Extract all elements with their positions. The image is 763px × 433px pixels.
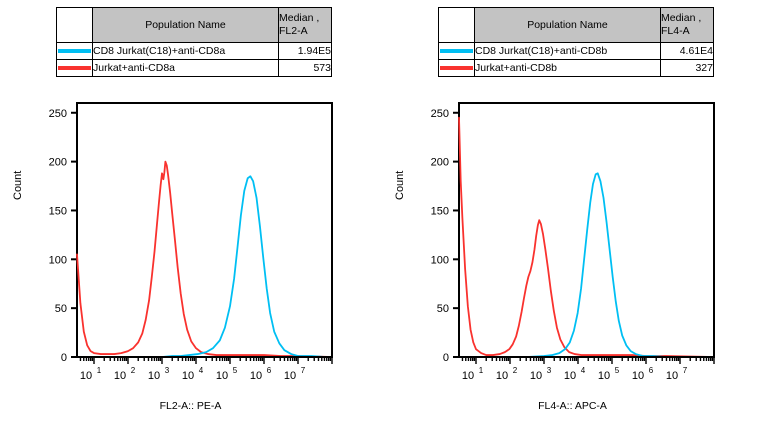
svg-text:3: 3 <box>547 366 552 375</box>
svg-text:7: 7 <box>683 366 688 375</box>
svg-text:100: 100 <box>49 254 67 266</box>
legend-median-value: 4.61E4 <box>661 43 714 60</box>
x-axis-title: FL4-A:: APC-A <box>382 400 763 412</box>
svg-text:50: 50 <box>55 303 67 315</box>
svg-text:100: 100 <box>431 254 449 266</box>
svg-text:10: 10 <box>496 370 508 382</box>
panel-right: Population Name Median , FL4-A CD8 Jurka… <box>382 0 763 433</box>
legend-median-value: 573 <box>279 60 332 77</box>
legend-median-value: 327 <box>661 60 714 77</box>
svg-text:250: 250 <box>431 108 449 120</box>
svg-text:10: 10 <box>148 370 160 382</box>
svg-text:150: 150 <box>431 205 449 217</box>
panel-left: Population Name Median , FL2-A CD8 Jurka… <box>0 0 381 433</box>
legend-row: CD8 Jurkat(C18)+anti-CD8b 4.61E4 <box>439 43 714 60</box>
svg-text:200: 200 <box>431 157 449 169</box>
svg-text:0: 0 <box>443 352 449 364</box>
svg-text:1: 1 <box>97 366 102 375</box>
svg-text:50: 50 <box>437 303 449 315</box>
svg-text:200: 200 <box>49 157 67 169</box>
legend-header-swatch <box>439 8 475 43</box>
svg-text:10: 10 <box>114 370 126 382</box>
legend-color-swatch-red <box>439 60 475 77</box>
legend-header-median-line1: Median , <box>661 12 713 25</box>
legend-color-swatch-cyan <box>439 43 475 60</box>
legend-population-name: CD8 Jurkat(C18)+anti-CD8b <box>475 43 661 60</box>
legend-header-row: Population Name Median , FL2-A <box>57 8 332 43</box>
svg-text:0: 0 <box>61 352 67 364</box>
svg-text:10: 10 <box>598 370 610 382</box>
svg-text:2: 2 <box>131 366 136 375</box>
svg-text:6: 6 <box>649 366 654 375</box>
y-axis-title: Count <box>12 171 24 200</box>
legend-color-swatch-cyan <box>57 43 93 60</box>
svg-text:10: 10 <box>250 370 262 382</box>
svg-text:4: 4 <box>199 366 204 375</box>
svg-text:150: 150 <box>49 205 67 217</box>
histogram-plot-right: 050100150200250101102103104105106107 <box>382 96 763 406</box>
svg-text:5: 5 <box>615 366 620 375</box>
swatch-line-icon <box>440 66 473 70</box>
legend-header-row: Population Name Median , FL4-A <box>439 8 714 43</box>
svg-text:6: 6 <box>267 366 272 375</box>
legend-table-right: Population Name Median , FL4-A CD8 Jurka… <box>438 7 714 77</box>
swatch-line-icon <box>440 49 473 53</box>
legend-header-median-line2: FL4-A <box>661 25 713 38</box>
svg-text:10: 10 <box>284 370 296 382</box>
svg-text:10: 10 <box>216 370 228 382</box>
svg-text:10: 10 <box>462 370 474 382</box>
legend-header-population-name: Population Name <box>93 8 279 43</box>
svg-text:10: 10 <box>666 370 678 382</box>
legend-row: CD8 Jurkat(C18)+anti-CD8a 1.94E5 <box>57 43 332 60</box>
figure-root: Population Name Median , FL2-A CD8 Jurka… <box>0 0 763 433</box>
histogram-plot-left: 050100150200250101102103104105106107 <box>0 96 381 406</box>
x-axis-title: FL2-A:: PE-A <box>0 400 381 412</box>
legend-header-median: Median , FL2-A <box>279 8 332 43</box>
svg-text:5: 5 <box>233 366 238 375</box>
legend-header-median-line2: FL2-A <box>279 25 331 38</box>
svg-text:7: 7 <box>301 366 306 375</box>
svg-text:10: 10 <box>632 370 644 382</box>
legend-population-name: Jurkat+anti-CD8a <box>93 60 279 77</box>
svg-text:10: 10 <box>564 370 576 382</box>
svg-text:1: 1 <box>479 366 484 375</box>
svg-text:4: 4 <box>581 366 586 375</box>
legend-header-median: Median , FL4-A <box>661 8 714 43</box>
legend-median-value: 1.94E5 <box>279 43 332 60</box>
legend-color-swatch-red <box>57 60 93 77</box>
histogram-svg: 050100150200250101102103104105106107 <box>382 96 763 396</box>
svg-text:3: 3 <box>165 366 170 375</box>
legend-row: Jurkat+anti-CD8a 573 <box>57 60 332 77</box>
legend-population-name: CD8 Jurkat(C18)+anti-CD8a <box>93 43 279 60</box>
legend-header-swatch <box>57 8 93 43</box>
legend-header-population-name: Population Name <box>475 8 661 43</box>
legend-population-name: Jurkat+anti-CD8b <box>475 60 661 77</box>
svg-text:250: 250 <box>49 108 67 120</box>
svg-text:10: 10 <box>530 370 542 382</box>
swatch-line-icon <box>58 49 91 53</box>
svg-text:2: 2 <box>513 366 518 375</box>
histogram-svg: 050100150200250101102103104105106107 <box>0 96 381 396</box>
legend-header-median-line1: Median , <box>279 12 331 25</box>
swatch-line-icon <box>58 66 91 70</box>
y-axis-title: Count <box>394 171 406 200</box>
legend-row: Jurkat+anti-CD8b 327 <box>439 60 714 77</box>
svg-text:10: 10 <box>182 370 194 382</box>
legend-table-left: Population Name Median , FL2-A CD8 Jurka… <box>56 7 332 77</box>
svg-text:10: 10 <box>80 370 92 382</box>
